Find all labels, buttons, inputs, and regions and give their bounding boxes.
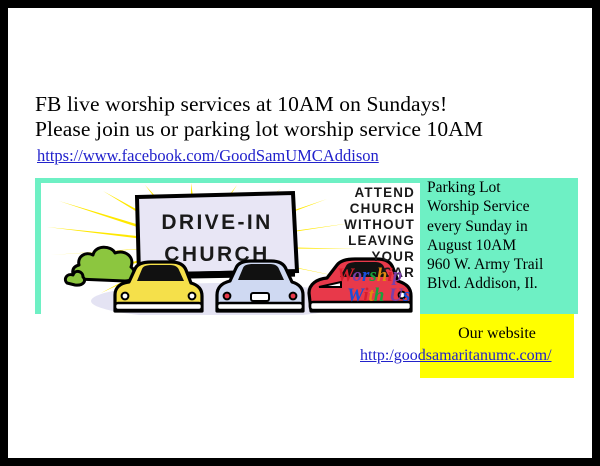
screen-text-line-1: DRIVE-IN bbox=[161, 211, 272, 234]
address-line-2: Worship Service bbox=[427, 197, 577, 216]
website-label: Our website bbox=[420, 324, 574, 343]
script-line-1: Worship bbox=[337, 265, 402, 286]
tagline-line-4: LEAVING bbox=[348, 233, 415, 248]
address-line-4: August 10AM bbox=[427, 236, 577, 255]
drive-in-church-clipart: DRIVE-IN CHURCH bbox=[41, 183, 420, 315]
tagline-line-2: CHURCH bbox=[350, 201, 415, 216]
website-link[interactable]: http:/goodsamaritanumc.com/ bbox=[360, 346, 552, 365]
address-text: Parking Lot Worship Service every Sunday… bbox=[427, 178, 577, 294]
address-line-6: Blvd. Addison, Il. bbox=[427, 274, 577, 293]
headline-line-1: FB live worship services at 10AM on Sund… bbox=[35, 92, 580, 117]
clipart-svg: DRIVE-IN CHURCH bbox=[41, 183, 420, 315]
tagline-line-5: YOUR bbox=[372, 249, 416, 264]
headline-line-2: Please join us or parking lot worship se… bbox=[35, 117, 580, 142]
address-line-1: Parking Lot bbox=[427, 178, 577, 197]
page-title: FB live worship services at 10AM on Sund… bbox=[35, 92, 580, 142]
address-line-3: every Sunday in bbox=[427, 217, 577, 236]
tagline-line-3: WITHOUT bbox=[344, 217, 415, 232]
facebook-link[interactable]: https://www.facebook.com/GoodSamUMCAddis… bbox=[37, 146, 379, 166]
tagline-line-1: ATTEND bbox=[354, 185, 415, 200]
script-line-2: With Us bbox=[347, 285, 410, 306]
worship-with-us-script: Worship With Us bbox=[337, 265, 410, 306]
address-line-5: 960 W. Army Trail bbox=[427, 255, 577, 274]
slide-canvas: FB live worship services at 10AM on Sund… bbox=[0, 0, 600, 466]
